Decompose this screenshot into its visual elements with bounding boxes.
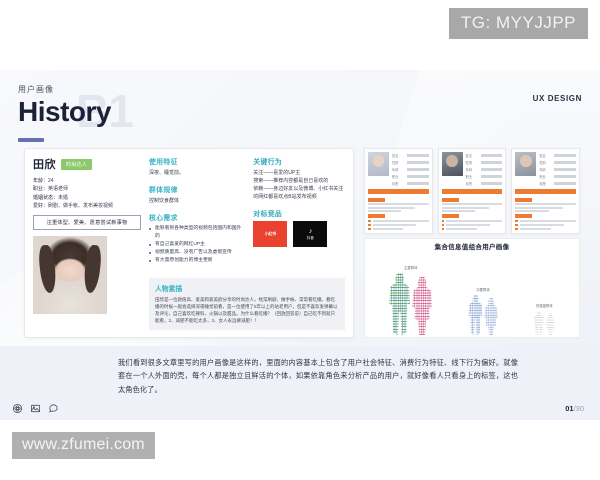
bullet-dot — [442, 220, 445, 223]
word-cloud-figure-female — [545, 313, 555, 335]
word-cloud-panel: 集合信息值组合用户画像 主要群体 次要群体 — [364, 238, 580, 338]
field-value — [554, 175, 576, 177]
persona-meta-row: 婚姻状态：未婚 — [33, 194, 141, 202]
text-line — [442, 207, 503, 209]
text-line — [515, 203, 576, 205]
telegram-watermark: TG: MYYJJPP — [449, 8, 588, 39]
field-key: 标签 — [392, 181, 405, 186]
list-item: 能够看到各种类型的视频包括国内和国外的 — [149, 225, 245, 241]
mini-card-field: 姓名 — [539, 153, 576, 158]
field-key: 职业 — [392, 174, 405, 179]
field-value — [554, 168, 576, 170]
section-title-core-needs: 核心需求 — [149, 212, 245, 222]
section-chip — [368, 198, 385, 202]
word-cloud-group-low: 低潜度群体 — [533, 311, 555, 335]
field-value — [554, 182, 576, 184]
avatar — [442, 152, 463, 176]
text-line — [368, 203, 429, 205]
field-key: 标签 — [466, 181, 479, 186]
persona-meta-key: 年龄： — [33, 178, 48, 184]
header-right-label: UX DESIGN — [533, 94, 582, 103]
key-behavior-line: 搜索——推荐内容都是自己喜欢的 — [253, 177, 345, 185]
title-underline-rule — [18, 138, 44, 142]
slide-canvas: 用户画像 B1 History UX DESIGN 田欣 时尚达人 年龄：24 — [0, 70, 600, 420]
field-key: 标签 — [539, 181, 552, 186]
bullet-line — [515, 224, 576, 227]
field-value — [407, 154, 429, 156]
persona-meta-value: 英语老师 — [48, 186, 68, 192]
bullet-dot — [442, 224, 445, 227]
mini-card-field: 姓名 — [392, 153, 429, 158]
persona-column-a: 使用特征 深夜、睡觉前。 群体规律 控制饮食群体 核心需求 能够看到各种类型的视… — [149, 156, 245, 271]
mini-card-field: 姓名 — [466, 153, 503, 158]
mini-persona-card: 姓名 性别 年龄 职业 标签 — [364, 148, 433, 234]
mini-card-header: 姓名 性别 年龄 职业 标签 — [442, 152, 503, 186]
persona-meta-row: 职业：英语老师 — [33, 185, 141, 193]
mini-card-fields: 姓名 性别 年龄 职业 标签 — [392, 152, 429, 186]
page-title: History — [18, 97, 111, 128]
site-watermark: www.zfumei.com — [12, 432, 155, 459]
section-title-key-behavior: 关键行为 — [253, 156, 345, 166]
mini-card-section — [515, 214, 576, 230]
page-current: 01 — [565, 404, 573, 413]
persona-badge: 时尚达人 — [61, 159, 92, 170]
douyin-logo: ♪ 抖音 — [293, 221, 327, 247]
mini-card-fields: 姓名 性别 年龄 职业 标签 — [466, 152, 503, 186]
bullet-dot — [515, 220, 518, 223]
bullet-dot — [368, 220, 371, 223]
image-icon[interactable] — [30, 403, 41, 414]
field-value — [481, 154, 503, 156]
persona-column-b: 关键行为 关注——喜爱的UP主 搜索——推荐内容都是自己喜欢的 依赖——身边好友… — [253, 156, 345, 271]
persona-meta-value: 刷剧、做手帐、发布美妆视频 — [48, 203, 113, 209]
section-chip — [515, 198, 532, 202]
list-item: 有大量原创能力的博主更新 — [149, 257, 245, 265]
mini-persona-card: 姓名 性别 年龄 职业 标签 — [511, 148, 580, 234]
text-line — [442, 210, 503, 212]
section-title-usage: 使用特征 — [149, 156, 245, 166]
group-label: 主要群体 — [404, 265, 418, 270]
portrait-hair-left — [38, 245, 58, 295]
mini-card-field: 职业 — [539, 174, 576, 179]
mini-card-field: 职业 — [392, 174, 429, 179]
mini-card-accent-bar — [368, 189, 429, 194]
persona-section-columns: 使用特征 深夜、睡觉前。 群体规律 控制饮食群体 核心需求 能够看到各种类型的视… — [149, 156, 345, 271]
xiaohongshu-label: 小红书 — [265, 231, 276, 237]
field-value — [407, 182, 429, 184]
field-key: 姓名 — [392, 153, 405, 158]
bullet-line — [515, 220, 576, 223]
persona-right-column: 使用特征 深夜、睡觉前。 群体规律 控制饮食群体 核心需求 能够看到各种类型的视… — [149, 156, 345, 330]
section-body-group: 控制饮食群体 — [149, 197, 245, 205]
section-title-competitors: 对标竞品 — [253, 208, 345, 218]
field-key: 年龄 — [466, 167, 479, 172]
persona-meta-key: 职业： — [33, 186, 48, 192]
section-chip — [515, 214, 532, 218]
mini-card-field: 标签 — [466, 181, 503, 186]
douyin-glyph: ♪ — [309, 228, 312, 235]
avatar — [368, 152, 389, 176]
field-value — [407, 168, 429, 170]
field-value — [481, 161, 503, 163]
word-cloud-figure-female — [484, 298, 498, 335]
persona-meta-value: 24 — [48, 178, 54, 184]
header-title-wrap: B1 History — [18, 97, 111, 131]
mini-card-section — [515, 198, 576, 213]
bullet-line — [442, 228, 503, 231]
persona-card: 田欣 时尚达人 年龄：24 职业：英语老师 婚姻状态：未婚 爱好：刷剧、做手帐、… — [24, 148, 354, 338]
field-key: 年龄 — [539, 167, 552, 172]
persona-left-column: 田欣 时尚达人 年龄：24 职业：英语老师 婚姻状态：未婚 爱好：刷剧、做手帐、… — [33, 156, 141, 330]
section-title-group: 群体规律 — [149, 184, 245, 194]
persona-meta-value: 未婚 — [58, 195, 68, 201]
field-value — [407, 175, 429, 177]
bullet-dot — [515, 228, 518, 231]
bullet-dot — [368, 224, 371, 227]
persona-meta-row: 爱好：刷剧、做手帐、发布美妆视频 — [33, 202, 141, 210]
field-key: 性别 — [392, 160, 405, 165]
key-behavior-line: 的网红都喜欢点B站发布视频 — [253, 193, 345, 201]
mini-card-header: 姓名 性别 年龄 职业 标签 — [515, 152, 576, 186]
list-item: 有自己喜爱的网红UP主 — [149, 241, 245, 249]
persona-portrait-photo — [33, 236, 107, 314]
core-needs-list: 能够看到各种类型的视频包括国内和国外的 有自己喜爱的网红UP主 视频质量高、没有… — [149, 225, 245, 265]
persona-meta-list: 年龄：24 职业：英语老师 婚姻状态：未婚 爱好：刷剧、做手帐、发布美妆视频 — [33, 177, 141, 210]
mini-card-field: 性别 — [539, 160, 576, 165]
section-body-usage: 深夜、睡觉前。 — [149, 169, 245, 177]
film-reel-icon[interactable] — [12, 403, 23, 414]
field-value — [481, 182, 503, 184]
field-key: 性别 — [466, 160, 479, 165]
right-panel: 姓名 性别 年龄 职业 标签 — [364, 148, 580, 338]
field-value — [481, 175, 503, 177]
page-total: 30 — [576, 404, 584, 413]
mini-card-field: 标签 — [392, 181, 429, 186]
competitor-logo-group: 小红书 ♪ 抖音 — [253, 221, 345, 247]
slide-stage: TG: MYYJJPP 用户画像 B1 History UX DESIGN 田欣… — [0, 0, 600, 480]
mini-card-section — [368, 198, 429, 213]
field-key: 姓名 — [466, 153, 479, 158]
persona-name-row: 田欣 时尚达人 — [33, 156, 141, 172]
key-behavior-lines: 关注——喜爱的UP主 搜索——推荐内容都是自己喜欢的 依赖——身边好友以及微博、… — [253, 169, 345, 201]
mini-card-accent-bar — [442, 189, 503, 194]
persona-meta-row: 年龄：24 — [33, 177, 141, 185]
mini-card-field: 标签 — [539, 181, 576, 186]
word-cloud-figure-male — [533, 311, 544, 335]
section-body-sketch: 田欣是一位颜值高、爱美和爱美欲分享的时尚达人，经常刷剧、做手帐、常常看吃播。看吃… — [155, 296, 339, 325]
speech-balloon-icon[interactable] — [48, 403, 59, 414]
field-key: 职业 — [539, 174, 552, 179]
slide-body: 田欣 时尚达人 年龄：24 职业：英语老师 婚姻状态：未婚 爱好：刷剧、做手帐、… — [24, 148, 580, 338]
bullet-line — [368, 228, 429, 231]
mini-card-field: 年龄 — [392, 167, 429, 172]
bullet-dot — [368, 228, 371, 231]
text-line — [515, 207, 576, 209]
bullet-dot — [515, 224, 518, 227]
page-indicator: 01/30 — [565, 404, 584, 413]
key-behavior-line: 关注——喜爱的UP主 — [253, 169, 345, 177]
persona-meta-key: 爱好： — [33, 203, 48, 209]
bullet-line — [368, 224, 429, 227]
caption-band: 我们看到很多文章里写的用户画像是这样的，里面的内容基本上包含了用户社会特征、消费… — [0, 346, 600, 420]
bottom-left-icon-group — [12, 403, 59, 414]
persona-meta-key: 婚姻状态： — [33, 195, 58, 201]
mini-card-field: 性别 — [392, 160, 429, 165]
bullet-line — [515, 228, 576, 231]
section-chip — [442, 214, 459, 218]
word-cloud-figure-female — [412, 277, 433, 335]
section-title-sketch: 人物素描 — [155, 283, 339, 293]
group-label: 次要群体 — [476, 287, 490, 292]
portrait-hair-right — [82, 245, 102, 295]
field-value — [554, 154, 576, 156]
mini-card-section — [442, 214, 503, 230]
bullet-line — [442, 224, 503, 227]
key-behavior-line: 依赖——身边好友以及微博、小红书关注 — [253, 185, 345, 193]
word-cloud-figure-male — [468, 295, 483, 335]
section-chip — [442, 198, 459, 202]
text-line — [442, 203, 503, 205]
xiaohongshu-logo: 小红书 — [253, 221, 287, 247]
field-value — [407, 161, 429, 163]
bullet-dot — [442, 228, 445, 231]
section-chip — [368, 214, 385, 218]
persona-trait-tag: 注重体型、爱美、愿意尝试新事物 — [33, 215, 141, 230]
mini-card-field: 职业 — [466, 174, 503, 179]
mini-card-accent-bar — [515, 189, 576, 194]
field-value — [554, 161, 576, 163]
mini-card-fields: 姓名 性别 年龄 职业 标签 — [539, 152, 576, 186]
text-line — [368, 210, 429, 212]
persona-name: 田欣 — [33, 156, 56, 172]
group-label: 低潜度群体 — [536, 303, 553, 308]
mini-persona-card-row: 姓名 性别 年龄 职业 标签 — [364, 148, 580, 234]
persona-sketch-box: 人物素描 田欣是一位颜值高、爱美和爱美欲分享的时尚达人，经常刷剧、做手帐、常常看… — [149, 278, 345, 330]
bullet-line — [368, 220, 429, 223]
field-key: 姓名 — [539, 153, 552, 158]
field-key: 性别 — [539, 160, 552, 165]
word-cloud-group-secondary: 次要群体 — [468, 295, 498, 335]
field-value — [481, 168, 503, 170]
slide-header: 用户画像 B1 History — [18, 84, 111, 142]
bullet-line — [442, 220, 503, 223]
caption-text: 我们看到很多文章里写的用户画像是这样的，里面的内容基本上包含了用户社会特征、消费… — [118, 356, 518, 396]
word-cloud-figure-male — [389, 273, 411, 335]
word-cloud-group-primary: 主要群体 — [389, 273, 433, 335]
text-line — [368, 207, 429, 209]
mini-card-field: 年龄 — [539, 167, 576, 172]
mini-card-field: 年龄 — [466, 167, 503, 172]
avatar — [515, 152, 536, 176]
mini-card-field: 性别 — [466, 160, 503, 165]
mini-card-section — [368, 214, 429, 230]
text-line — [515, 210, 576, 212]
mini-persona-card: 姓名 性别 年龄 职业 标签 — [438, 148, 507, 234]
douyin-label: 抖音 — [307, 236, 314, 241]
word-cloud-figures: 主要群体 次要群体 低潜度群体 — [365, 249, 579, 337]
field-key: 年龄 — [392, 167, 405, 172]
mini-card-section — [442, 198, 503, 213]
mini-card-header: 姓名 性别 年龄 职业 标签 — [368, 152, 429, 186]
field-key: 职业 — [466, 174, 479, 179]
list-item: 视频质量高、没有广告以及虚假宣传 — [149, 249, 245, 257]
